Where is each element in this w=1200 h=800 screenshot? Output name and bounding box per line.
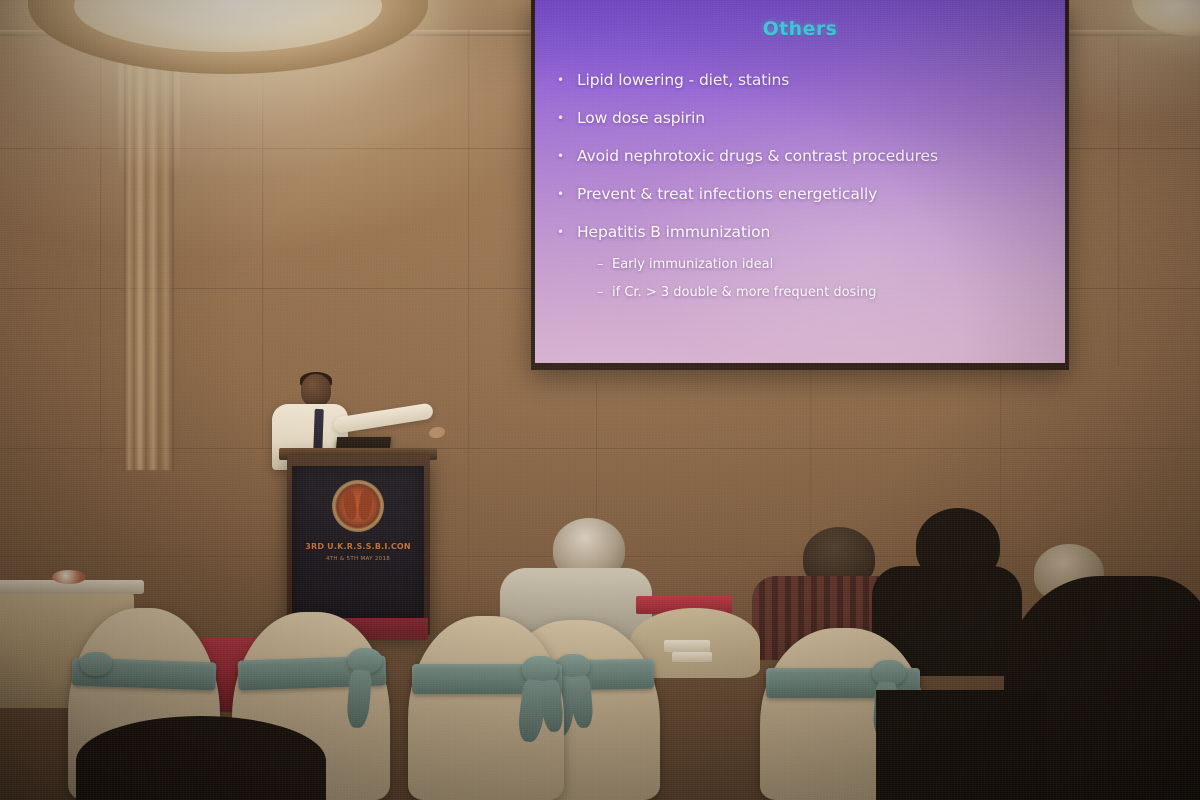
bullet-text: Hepatitis B immunization bbox=[577, 224, 1057, 241]
kidney-emblem-logo bbox=[332, 480, 384, 532]
slide-subbullet-list: – Early immunization ideal – if Cr. > 3 … bbox=[597, 258, 1057, 315]
list-item: – Early immunization ideal bbox=[597, 258, 1057, 272]
bullet-dot-icon: • bbox=[557, 148, 577, 164]
speaker-tie bbox=[313, 409, 324, 453]
banner-dates: 4TH & 5TH MAY 2018 bbox=[292, 556, 424, 562]
bullet-text: Lipid lowering - diet, statins bbox=[577, 72, 1057, 89]
dash-icon: – bbox=[597, 258, 612, 272]
bullet-text: Avoid nephrotoxic drugs & contrast proce… bbox=[577, 148, 1057, 165]
table-papers bbox=[664, 640, 710, 652]
list-item: • Low dose aspirin bbox=[557, 110, 1057, 127]
slide-title: Others bbox=[535, 18, 1065, 40]
wall-seam-vertical bbox=[1000, 370, 1002, 570]
wall-seam-vertical bbox=[100, 30, 102, 460]
bullet-dot-icon: • bbox=[557, 72, 577, 88]
bullet-dot-icon: • bbox=[557, 110, 577, 126]
chair-bow bbox=[80, 652, 112, 676]
subbullet-text: Early immunization ideal bbox=[612, 258, 773, 272]
table-papers bbox=[672, 652, 712, 662]
speaker-head bbox=[301, 374, 331, 407]
table-centerpiece bbox=[52, 570, 86, 584]
presentation-slide: Others • Lipid lowering - diet, statins … bbox=[535, 0, 1065, 363]
wall-seam-horizontal bbox=[0, 448, 1200, 450]
foreground-shoulder-silhouette bbox=[876, 690, 1046, 800]
bullet-dot-icon: • bbox=[557, 224, 577, 240]
podium-banner: 3RD U.K.R.S.S.B.I.CON 4TH & 5TH MAY 2018 bbox=[292, 466, 424, 618]
wall-seam-vertical bbox=[262, 30, 264, 450]
foreground-head-silhouette bbox=[76, 716, 326, 800]
bullet-text: Low dose aspirin bbox=[577, 110, 1057, 127]
list-item: – if Cr. > 3 double & more frequent dosi… bbox=[597, 286, 1057, 300]
banner-title: 3RD U.K.R.S.S.B.I.CON bbox=[292, 542, 424, 551]
list-item: • Lipid lowering - diet, statins bbox=[557, 72, 1057, 89]
bullet-dot-icon: • bbox=[557, 186, 577, 202]
drum-ceiling-light bbox=[28, 0, 428, 84]
bullet-text: Prevent & treat infections energetically bbox=[577, 186, 1057, 203]
wall-seam-vertical bbox=[468, 30, 470, 590]
dash-icon: – bbox=[597, 286, 612, 300]
wall-seam-vertical bbox=[1118, 36, 1120, 366]
subbullet-text: if Cr. > 3 double & more frequent dosing bbox=[612, 286, 876, 300]
list-item: • Avoid nephrotoxic drugs & contrast pro… bbox=[557, 148, 1057, 165]
list-item: • Prevent & treat infections energetical… bbox=[557, 186, 1057, 203]
lecture-hall-photo: Others • Lipid lowering - diet, statins … bbox=[0, 0, 1200, 800]
slide-bullet-list: • Lipid lowering - diet, statins • Low d… bbox=[557, 72, 1057, 262]
list-item: • Hepatitis B immunization bbox=[557, 224, 1057, 241]
